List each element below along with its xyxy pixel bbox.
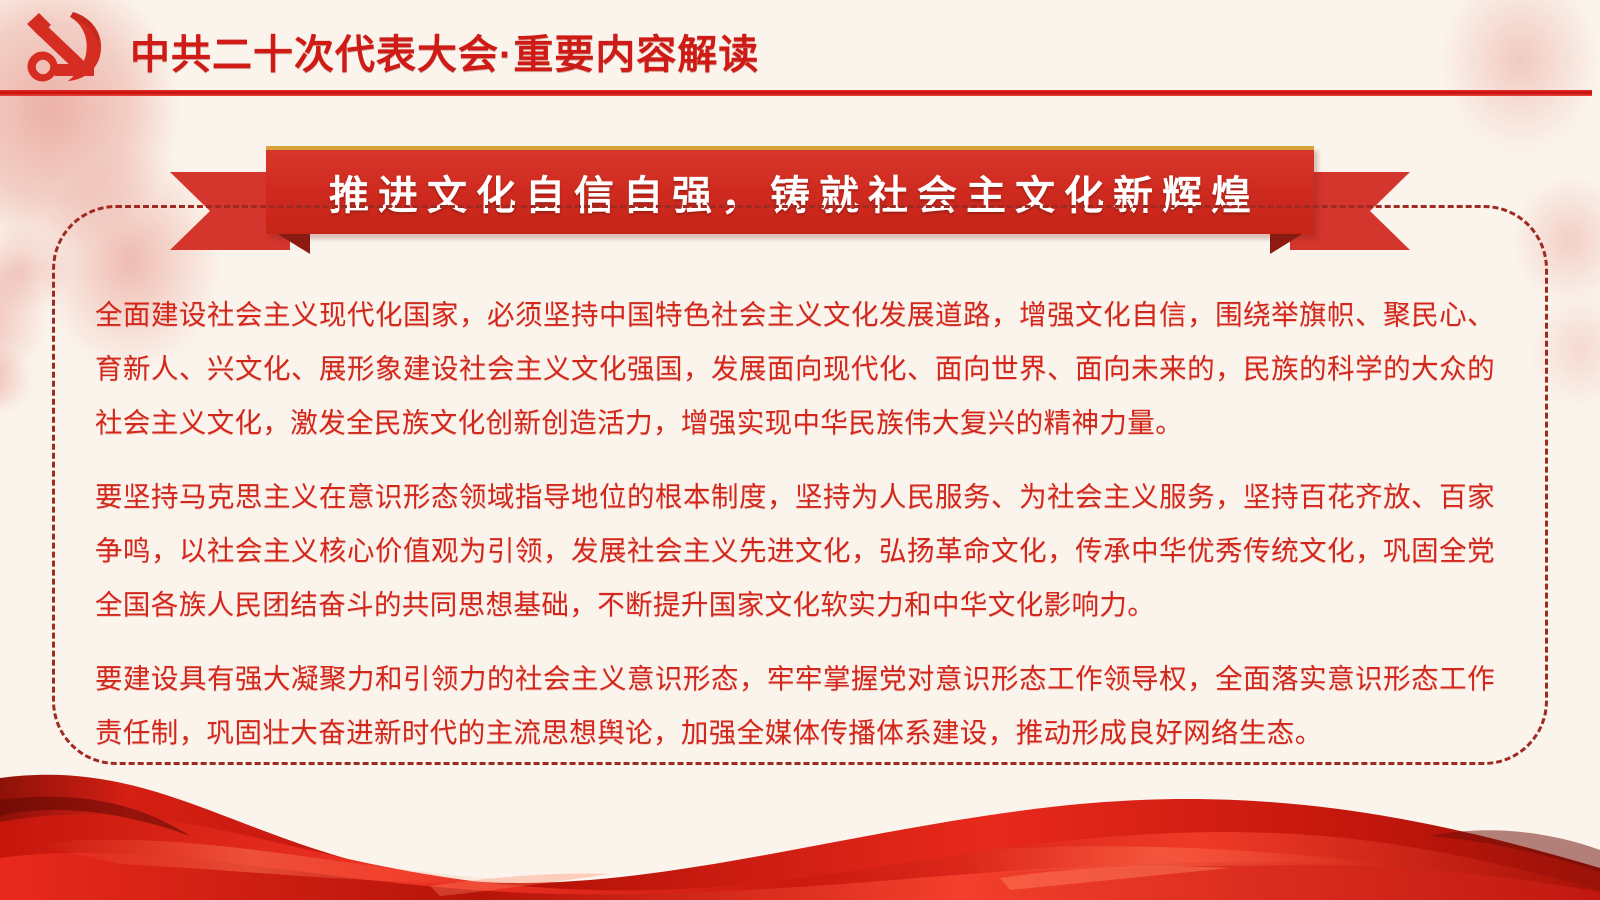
header: 中共二十次代表大会·重要内容解读 <box>0 0 1600 95</box>
content-body: 全面建设社会主义现代化国家，必须坚持中国特色社会主义文化发展道路，增强文化自信，… <box>95 288 1495 760</box>
hammer-sickle-emblem-icon <box>10 4 120 90</box>
page-title: 中共二十次代表大会·重要内容解读 <box>130 22 759 80</box>
slide-root: 中共二十次代表大会·重要内容解读 推进文化自信自强，铸就社会主文化新辉煌 全面建… <box>0 0 1600 900</box>
paragraph-1: 全面建设社会主义现代化国家，必须坚持中国特色社会主义文化发展道路，增强文化自信，… <box>95 288 1495 450</box>
paragraph-2: 要坚持马克思主义在意识形态领域指导地位的根本制度，坚持为人民服务、为社会主义服务… <box>95 470 1495 632</box>
header-divider <box>0 90 1592 96</box>
bottom-silk-wave-decoration <box>0 740 1600 900</box>
